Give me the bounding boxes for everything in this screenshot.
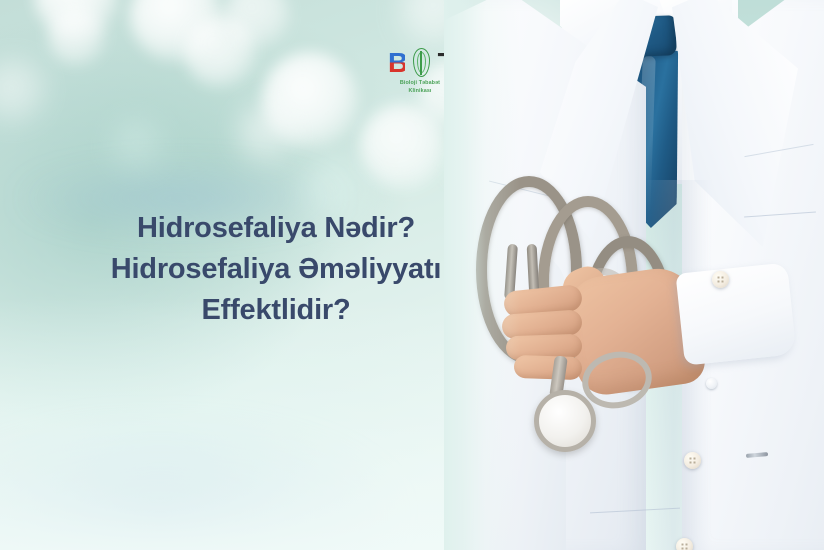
lab-coat-button	[712, 271, 729, 288]
logo-letter-b: B B	[388, 49, 405, 77]
title-line-3: Effektlidir?	[40, 290, 512, 331]
logo-tagline-line-2: Klinikası	[388, 88, 452, 95]
leaf-stem	[420, 51, 422, 75]
title-line-1: Hidrosefaliya Nədir?	[40, 208, 512, 249]
cuff-button	[706, 378, 717, 389]
leaf-icon	[412, 48, 431, 78]
promo-banner: B B T Bioloji Təbabət Klinikası Hidrosef…	[0, 0, 824, 550]
shirt-cuff	[675, 262, 796, 365]
clinic-logo[interactable]: B B T Bioloji Təbabət Klinikası	[388, 47, 452, 105]
lab-coat-button	[676, 538, 693, 550]
title-line-2: Hidrosefaliya Əməliyyatı	[40, 249, 512, 290]
bokeh-circle	[238, 104, 296, 162]
stethoscope-chestpiece	[534, 390, 596, 452]
finger	[514, 355, 583, 380]
lab-coat-button	[684, 452, 701, 469]
bokeh-circle	[48, 8, 106, 66]
logo-tagline-line-1: Bioloji Təbabət	[388, 80, 452, 87]
banner-title: Hidrosefaliya Nədir? Hidrosefaliya Əməli…	[40, 208, 512, 331]
logo-wordmark: B B T	[388, 47, 452, 79]
bokeh-circle	[110, 118, 166, 174]
background-light-wash	[0, 297, 461, 550]
